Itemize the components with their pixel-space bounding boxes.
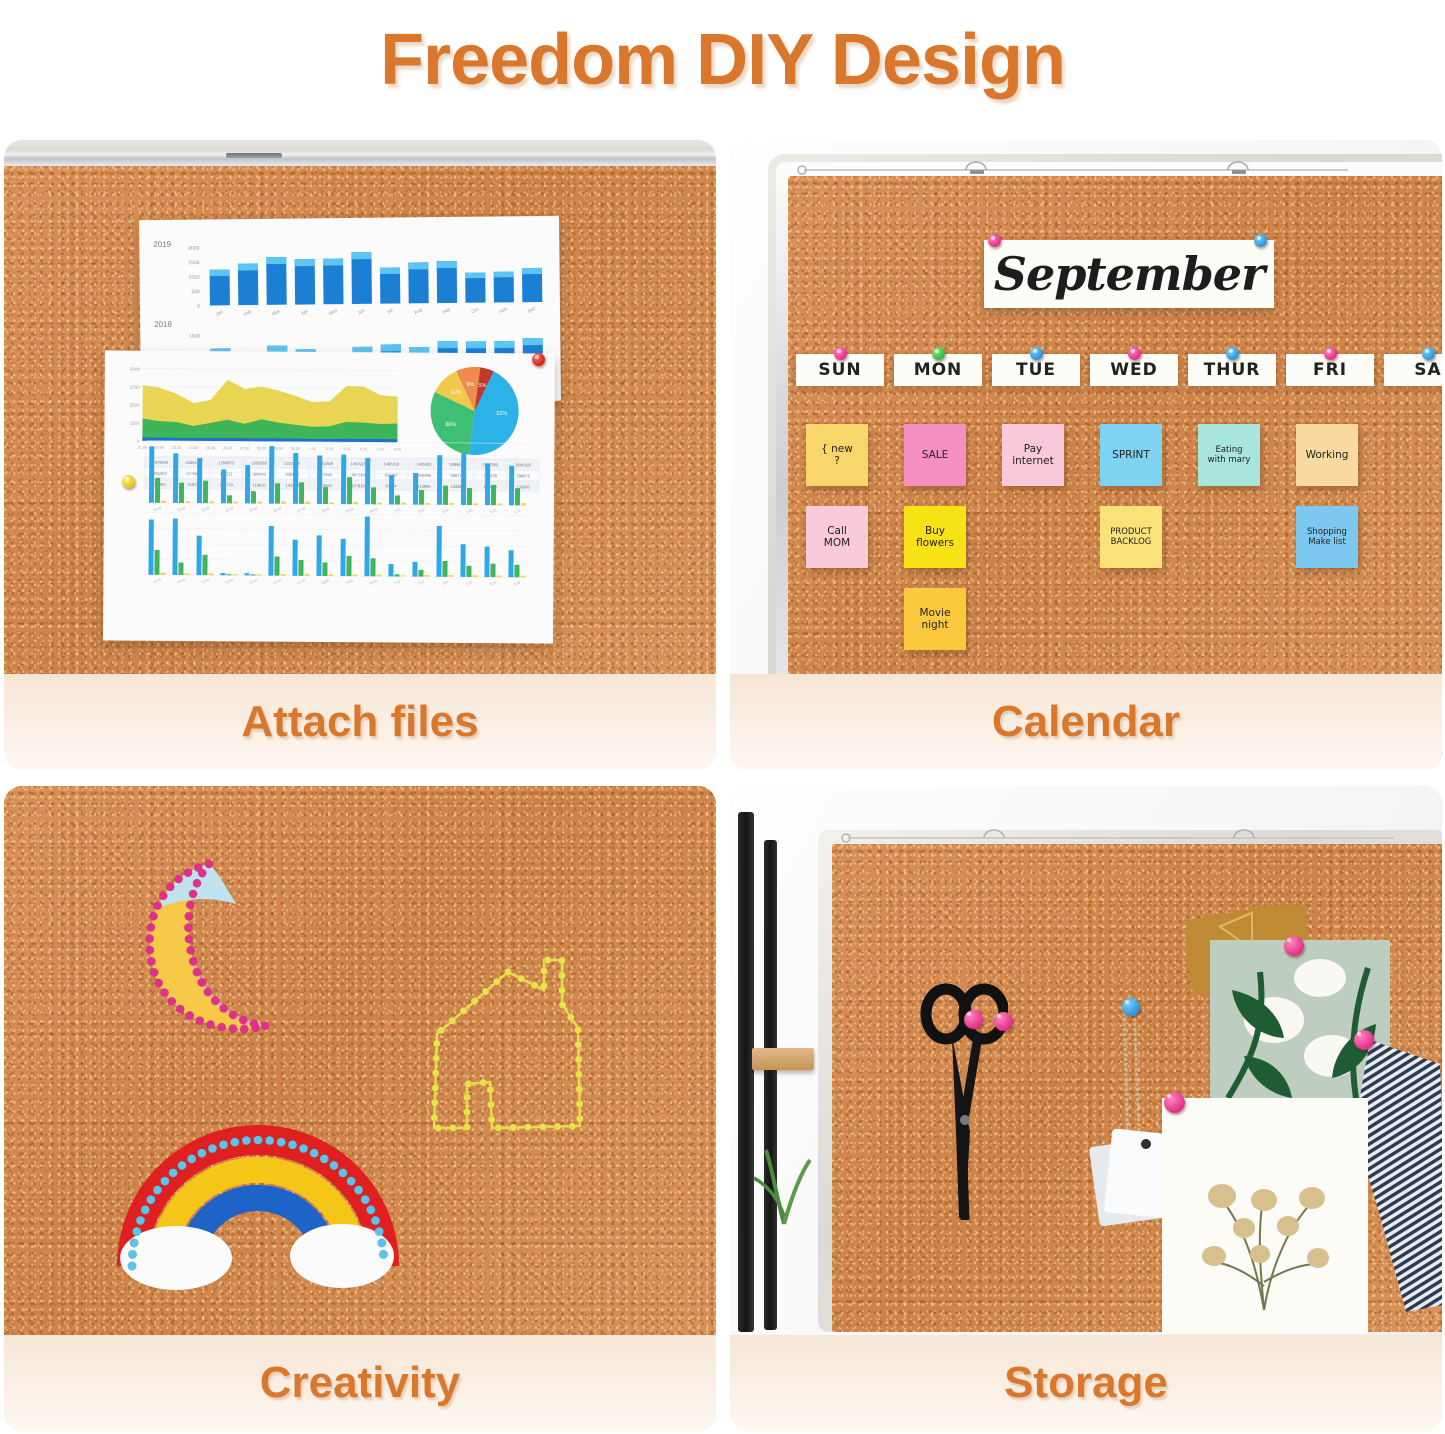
svg-text:28.09: 28.09 — [321, 507, 330, 514]
svg-text:Jul: Jul — [386, 308, 394, 315]
svg-text:Jun: Jun — [357, 307, 366, 315]
svg-text:2500: 2500 — [130, 403, 140, 408]
svg-text:4.10: 4.10 — [360, 447, 367, 451]
svg-text:1256873: 1256873 — [218, 460, 234, 465]
svg-text:1.10: 1.10 — [394, 507, 401, 513]
svg-text:1401923: 1401923 — [350, 461, 366, 466]
svg-text:21.09: 21.09 — [138, 446, 147, 450]
svg-text:127819: 127819 — [351, 483, 365, 488]
sticky-note[interactable]: Eating with mary — [1198, 424, 1260, 486]
sticky-note[interactable]: SPRINT — [1100, 424, 1162, 486]
svg-text:27.09: 27.09 — [297, 506, 306, 513]
calendar-day-header[interactable]: SA — [1384, 354, 1442, 386]
svg-text:14.09: 14.09 — [225, 578, 234, 585]
svg-text:24.09: 24.09 — [189, 446, 198, 450]
calendar-day-label: FRI — [1313, 360, 1347, 380]
house-outline-string-art — [412, 946, 612, 1166]
calendar-day-label: SA — [1414, 360, 1441, 380]
svg-text:6.10: 6.10 — [513, 580, 520, 586]
svg-text:Feb: Feb — [243, 308, 253, 317]
svg-text:26.09: 26.09 — [223, 446, 232, 450]
svg-text:25.09: 25.09 — [206, 446, 215, 450]
pin-pink[interactable] — [1284, 936, 1304, 956]
pin-pink[interactable] — [1164, 1092, 1185, 1113]
sticky-note[interactable]: Call MOM — [806, 506, 868, 568]
crescent-moon-string-art — [124, 846, 344, 1046]
month-header-card[interactable]: September — [984, 240, 1274, 308]
svg-text:1.10: 1.10 — [393, 579, 400, 585]
dashboard-svg: 5000375025001250021.0922.0923.0924.0925.… — [103, 350, 555, 643]
calendar-day-label: MON — [914, 360, 963, 380]
svg-text:2.10: 2.10 — [418, 508, 425, 514]
panel-attach-files: 2019 2018 2000150010005000JanFebMarAprMa… — [4, 140, 716, 770]
svg-text:113986: 113986 — [418, 484, 432, 489]
pin-blue[interactable] — [1254, 234, 1267, 247]
svg-text:110916: 110916 — [253, 482, 267, 487]
svg-text:Dec: Dec — [527, 305, 537, 314]
svg-text:29.09: 29.09 — [345, 507, 354, 514]
svg-text:1550582: 1550582 — [251, 460, 267, 465]
svg-text:May: May — [328, 307, 339, 316]
pin-pink[interactable] — [988, 234, 1001, 247]
caption-storage: Storage — [730, 1335, 1442, 1431]
svg-text:52%: 52% — [496, 411, 507, 417]
sticky-note[interactable]: { new ? — [806, 424, 868, 486]
page-title-text: Freedom DIY Design — [380, 19, 1065, 101]
svg-text:Sep: Sep — [442, 306, 452, 315]
svg-text:3.10: 3.10 — [343, 447, 350, 451]
svg-text:5.10: 5.10 — [490, 508, 497, 514]
wooden-shelf — [752, 1048, 814, 1070]
document-dashboard: 5000375025001250021.0922.0923.0924.0925.… — [103, 350, 555, 643]
hanger-hardware-icon — [834, 826, 1434, 848]
svg-text:Nov: Nov — [498, 306, 508, 315]
pin-pink[interactable] — [964, 1010, 983, 1029]
panel-calendar: September SUNMONTUEWEDTHURFRISA { new ?S… — [730, 140, 1442, 770]
pin-pink[interactable] — [834, 347, 847, 360]
sticky-note-text: Shopping Make list — [1307, 527, 1347, 547]
svg-text:3.10: 3.10 — [442, 508, 449, 514]
sticky-note-text: Movie night — [919, 607, 950, 632]
svg-text:23.09: 23.09 — [172, 446, 181, 450]
svg-text:1250: 1250 — [130, 421, 140, 426]
panel-creativity: Creativity — [4, 786, 716, 1431]
svg-text:25.09: 25.09 — [249, 506, 258, 513]
svg-text:13.09: 13.09 — [201, 578, 210, 585]
pin-blue[interactable] — [1122, 998, 1140, 1016]
sticky-note-text: Eating with mary — [1208, 445, 1251, 465]
pin-pink[interactable] — [994, 1012, 1013, 1031]
svg-text:15.09: 15.09 — [249, 578, 258, 585]
svg-text:1223595: 1223595 — [284, 461, 300, 466]
svg-text:30.09: 30.09 — [291, 447, 300, 451]
month-label: September — [994, 247, 1265, 301]
svg-text:1600: 1600 — [189, 334, 200, 340]
svg-text:Apr: Apr — [300, 308, 309, 316]
svg-text:16.09: 16.09 — [273, 578, 282, 585]
svg-text:28.09: 28.09 — [257, 446, 266, 450]
svg-text:30%: 30% — [445, 422, 456, 428]
svg-text:3.10: 3.10 — [441, 580, 448, 586]
pin-pink[interactable] — [1128, 347, 1141, 360]
plant-icon — [744, 1116, 824, 1226]
caption-calendar: Calendar — [730, 674, 1442, 770]
svg-text:2000: 2000 — [188, 246, 199, 252]
svg-text:1079653: 1079653 — [152, 460, 168, 465]
calendar-day-label: TUE — [1016, 360, 1056, 380]
svg-text:3750: 3750 — [130, 385, 140, 390]
pin-blue[interactable] — [1226, 347, 1239, 360]
sticky-note-text: SPRINT — [1112, 449, 1150, 461]
caption-creativity: Creativity — [4, 1335, 716, 1431]
calendar-layout: September SUNMONTUEWEDTHURFRISA { new ?S… — [788, 176, 1442, 758]
svg-text:Aug: Aug — [413, 307, 423, 316]
panel-storage: Storage — [730, 786, 1442, 1431]
svg-text:4.10: 4.10 — [466, 508, 473, 514]
pin-green[interactable] — [932, 347, 945, 360]
svg-text:5000: 5000 — [130, 367, 140, 372]
svg-text:17.09: 17.09 — [297, 578, 306, 585]
rainbow-string-art — [114, 1106, 404, 1296]
sticky-note-text: Buy flowers — [916, 525, 954, 550]
svg-text:26.09: 26.09 — [273, 506, 282, 513]
svg-text:6.10: 6.10 — [514, 508, 521, 514]
pin-blue[interactable] — [1030, 347, 1043, 360]
metal-rack-left — [738, 812, 754, 1332]
caption-text: Calendar — [992, 697, 1180, 747]
sticky-note[interactable]: SALE — [904, 424, 966, 486]
svg-text:24.09: 24.09 — [225, 506, 234, 513]
caption-text: Creativity — [260, 1358, 461, 1408]
svg-text:20.09: 20.09 — [369, 579, 378, 586]
pressed-flower-card — [1160, 1096, 1372, 1336]
sticky-note[interactable]: Movie night — [904, 588, 966, 650]
sticky-note-text: { new ? — [821, 443, 853, 468]
svg-text:2.10: 2.10 — [417, 580, 424, 586]
svg-text:12.09: 12.09 — [177, 578, 186, 585]
sticky-note[interactable]: Pay internet — [1002, 424, 1064, 486]
pin-pink[interactable] — [1354, 1030, 1374, 1050]
svg-text:0: 0 — [137, 439, 140, 444]
sticky-note-text: Working — [1306, 449, 1349, 461]
sticky-note[interactable]: Buy flowers — [904, 506, 966, 568]
pin-blue[interactable] — [1422, 347, 1435, 360]
frame-clip-icon — [226, 153, 282, 158]
svg-text:4.10: 4.10 — [465, 580, 472, 586]
svg-text:9%: 9% — [467, 382, 475, 388]
calendar-day-label: SUN — [818, 360, 861, 380]
sticky-note[interactable]: PRODUCT BACKLOG — [1100, 506, 1162, 568]
pin-red[interactable] — [532, 353, 545, 366]
svg-text:Jan: Jan — [215, 309, 224, 317]
svg-text:6.10: 6.10 — [394, 447, 401, 451]
metal-rack-right — [764, 840, 777, 1330]
calendar-day-label: THUR — [1204, 360, 1261, 380]
svg-text:22.09: 22.09 — [155, 446, 164, 450]
svg-text:1486118: 1486118 — [384, 461, 400, 466]
svg-text:1405911: 1405911 — [417, 462, 433, 467]
svg-text:5%: 5% — [478, 383, 486, 389]
page-title: Freedom DIY Design — [0, 0, 1445, 120]
svg-text:1000: 1000 — [188, 275, 199, 281]
svg-text:18.09: 18.09 — [321, 579, 330, 586]
svg-text:5.10: 5.10 — [489, 580, 496, 586]
infographic-root: Freedom DIY Design 2019 2018 20001500100… — [0, 0, 1445, 1434]
sticky-note-text: PRODUCT BACKLOG — [1110, 527, 1152, 547]
sticky-note-text: Call MOM — [824, 525, 850, 550]
caption-text: Storage — [1004, 1358, 1168, 1408]
svg-text:0: 0 — [197, 304, 200, 310]
svg-text:Mar: Mar — [271, 308, 281, 317]
svg-text:1500: 1500 — [188, 260, 199, 266]
svg-text:22.09: 22.09 — [177, 506, 186, 513]
svg-text:5.10: 5.10 — [377, 447, 384, 451]
svg-text:3045165: 3045165 — [515, 462, 531, 467]
svg-text:21.09: 21.09 — [153, 505, 162, 512]
sticky-note-text: Pay internet — [1012, 443, 1054, 468]
svg-text:19.09: 19.09 — [345, 579, 354, 586]
svg-text:11.09: 11.09 — [153, 578, 162, 585]
svg-text:2997283: 2997283 — [482, 462, 498, 467]
svg-text:500: 500 — [191, 289, 200, 295]
pin-pink[interactable] — [1324, 347, 1337, 360]
svg-text:2.10: 2.10 — [326, 447, 333, 451]
board-frame-top — [4, 140, 716, 166]
pin-yellow[interactable] — [122, 475, 135, 488]
sticky-note[interactable]: Working — [1296, 424, 1358, 486]
caption-text: Attach files — [241, 697, 478, 747]
svg-text:1.10: 1.10 — [309, 447, 316, 451]
calendar-day-label: WED — [1110, 360, 1157, 380]
sticky-note-text: SALE — [922, 449, 949, 461]
caption-attach-files: Attach files — [4, 674, 716, 770]
svg-text:30.09: 30.09 — [369, 507, 378, 514]
sticky-note[interactable]: Shopping Make list — [1296, 506, 1358, 568]
svg-text:Oct: Oct — [471, 306, 480, 314]
svg-text:11%: 11% — [450, 390, 461, 396]
svg-text:23.09: 23.09 — [201, 506, 210, 513]
svg-text:27.09: 27.09 — [240, 446, 249, 450]
svg-text:29.09: 29.09 — [274, 447, 283, 451]
